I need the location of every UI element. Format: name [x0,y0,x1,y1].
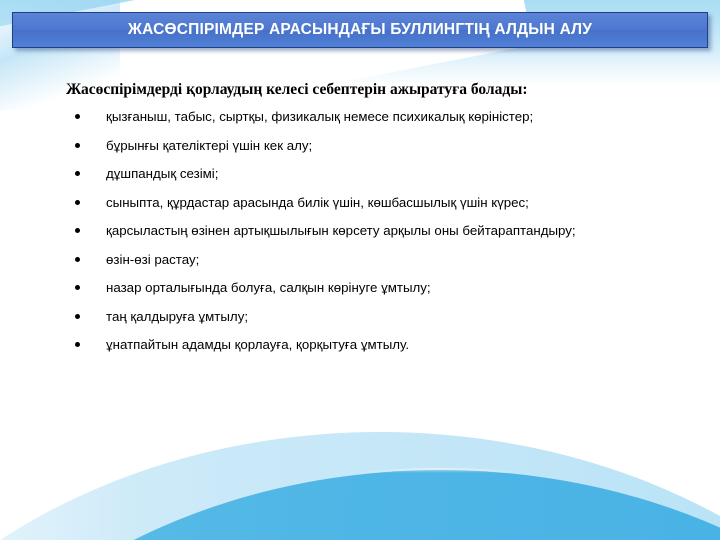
list-item: таң қалдыруға ұмтылу; [40,306,680,328]
list-item: қарсыластың өзінен артықшылығын көрсету … [40,220,680,242]
presentation-slide: ЖАСӨСПІРІМДЕР АРАСЫНДАҒЫ БУЛЛИНГТІҢ АЛДЫ… [0,0,720,540]
list-item: өзін-өзі растау; [40,249,680,271]
list-item: дұшпандық сезімі; [40,163,680,185]
slide-body: Жасөспірімдерді қорлаудың келесі себепте… [40,78,680,363]
slide-title-bar: ЖАСӨСПІРІМДЕР АРАСЫНДАҒЫ БУЛЛИНГТІҢ АЛДЫ… [12,12,708,48]
bottom-blue-arc-decoration [0,470,720,540]
slide-title-text: ЖАСӨСПІРІМДЕР АРАСЫНДАҒЫ БУЛЛИНГТІҢ АЛДЫ… [128,21,592,39]
list-item: ұнатпайтын адамды қорлауға, қорқытуға ұм… [40,334,680,356]
list-item: назар орталығында болуға, салқын көрінуг… [40,277,680,299]
bottom-arc-highlight-decoration [0,468,720,540]
list-item: қызғаныш, табыс, сыртқы, физикалық немес… [40,106,680,128]
lead-paragraph: Жасөспірімдерді қорлаудың келесі себепте… [40,78,680,102]
bottom-light-arc-decoration [0,432,720,540]
list-item: сыныпта, құрдастар арасында билік үшін, … [40,192,680,214]
list-item: бұрынғы қателіктері үшін кек алу; [40,135,680,157]
bullet-list: қызғаныш, табыс, сыртқы, физикалық немес… [40,106,680,356]
